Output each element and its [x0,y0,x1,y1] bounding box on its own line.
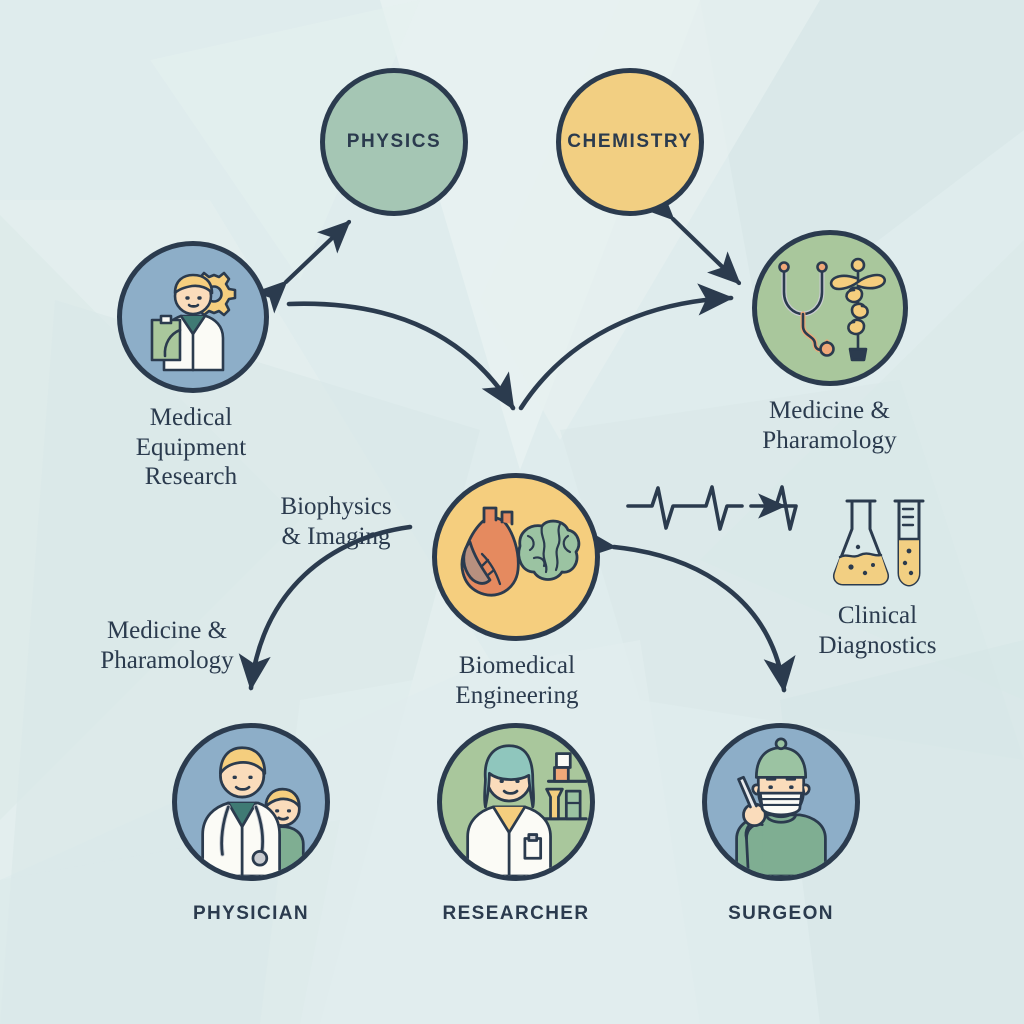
researcher-label: RESEARCHER [437,903,595,925]
edge-label-biophysics-imaging-line2: & Imaging [272,522,400,552]
flask-test-tube-icon [825,495,930,590]
edge-biomedical-surgeon [614,547,784,690]
edge-label-biophysics-imaging: Biophysics & Imaging [272,492,400,552]
edge-equipment-physics [286,222,349,282]
clinical-diagnostics-line2: Diagnostics [810,631,945,661]
edge-biomedical-medicine [521,298,731,408]
physician-label: PHYSICIAN [172,903,330,925]
engineer-with-gear-icon [134,258,252,376]
chemistry-circle[interactable]: CHEMISTRY [556,68,704,216]
physician-circle[interactable] [172,723,330,881]
node-physician[interactable]: PHYSICIAN [172,723,330,925]
edge-equipment-biomedical [289,304,513,408]
node-physics[interactable]: PHYSICS [320,68,468,216]
masked-surgeon-icon [707,727,855,877]
heartbeat-ecg-icon [628,487,796,529]
node-medical-equipment-research[interactable]: Medical Equipment Research [117,241,269,492]
clinical-diagnostics-line1: Clinical [810,601,945,631]
medicine-pharmacology-circle[interactable] [752,230,908,386]
stethoscope-caduceus-icon [770,248,890,368]
biomedical-engineering-circle[interactable] [432,473,600,641]
lab-scientist-icon [442,727,590,877]
researcher-circle[interactable] [437,723,595,881]
edge-label-medicine-pharmacology: Medicine & Pharamology [92,616,242,676]
node-researcher[interactable]: RESEARCHER [437,723,595,925]
medical-equipment-research-circle[interactable] [117,241,269,393]
edge-label-biophysics-imaging-line1: Biophysics [272,492,400,522]
node-biomedical-engineering[interactable]: Biomedical Engineering [432,473,600,710]
edge-label-medicine-pharmacology-line1: Medicine & [92,616,242,646]
node-medicine-pharmacology[interactable]: Medicine & Pharamology [752,230,908,455]
clinical-diagnostics-caption: Clinical Diagnostics [810,601,945,661]
chemistry-label: CHEMISTRY [567,131,693,153]
clinical-diagnostics-group: Clinical Diagnostics [810,495,945,661]
diagram-canvas: Physics --> Medicine & Pharamology --> B… [0,0,1024,1024]
doctor-and-patient-icon [177,727,325,877]
medicine-pharmacology-label: Medicine & Pharamology [742,396,917,455]
edge-chemistry-medicine [673,219,739,283]
biomedical-engineering-label: Biomedical Engineering [432,651,602,710]
surgeon-circle[interactable] [702,723,860,881]
physics-label: PHYSICS [347,131,442,153]
node-surgeon[interactable]: SURGEON [702,723,860,925]
physics-circle[interactable]: PHYSICS [320,68,468,216]
edge-label-medicine-pharmacology-line2: Pharamology [92,646,242,676]
medical-equipment-research-label: Medical Equipment Research [116,403,266,492]
node-chemistry[interactable]: CHEMISTRY [556,68,704,216]
surgeon-label: SURGEON [702,903,860,925]
heart-brain-icon [448,502,584,612]
